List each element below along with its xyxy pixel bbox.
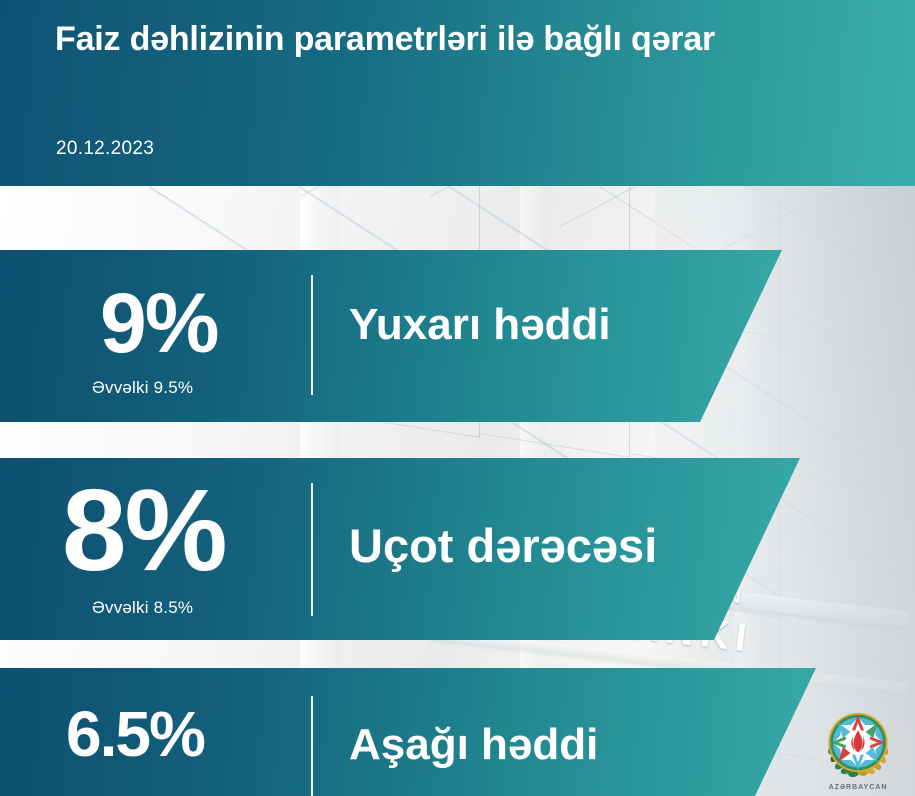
rate-band-discount-rate: 8% Əvvəlki 8.5% Uçot dərəcəsi <box>0 458 800 640</box>
rate-label-upper-bound: Yuxarı həddi <box>349 300 611 350</box>
rate-value-discount-rate: 8% <box>62 478 226 582</box>
previous-rate-upper-bound: Əvvəlki 9.5% <box>92 378 193 398</box>
rate-label-lower-bound: Aşağı həddi <box>349 720 598 770</box>
rate-value-upper-bound: 9% <box>100 286 217 362</box>
header-banner: Faiz dəhlizinin parametrləri ilə bağlı q… <box>0 0 915 186</box>
publication-date: 20.12.2023 <box>56 138 154 160</box>
band-divider <box>311 275 313 395</box>
rate-band-upper-bound: 9% Əvvəlki 9.5% Yuxarı həddi <box>0 250 782 422</box>
rate-label-discount-rate: Uçot dərəcəsi <box>349 518 657 573</box>
rate-band-lower-bound: 6.5% Aşağı həddi <box>0 668 816 796</box>
emblem-caption: AZƏRBAYCAN <box>806 784 910 791</box>
previous-rate-discount-rate: Əvvəlki 8.5% <box>92 598 193 618</box>
band-divider <box>311 696 313 796</box>
band-divider <box>311 483 313 616</box>
rate-value-lower-bound: 6.5% <box>66 706 204 764</box>
azerbaijan-emblem-icon <box>820 706 896 782</box>
page-title: Faiz dəhlizinin parametrləri ilə bağlı q… <box>55 16 835 63</box>
infographic-canvas: NIN BANKI Faiz dəhlizinin parametrləri i… <box>0 0 915 796</box>
